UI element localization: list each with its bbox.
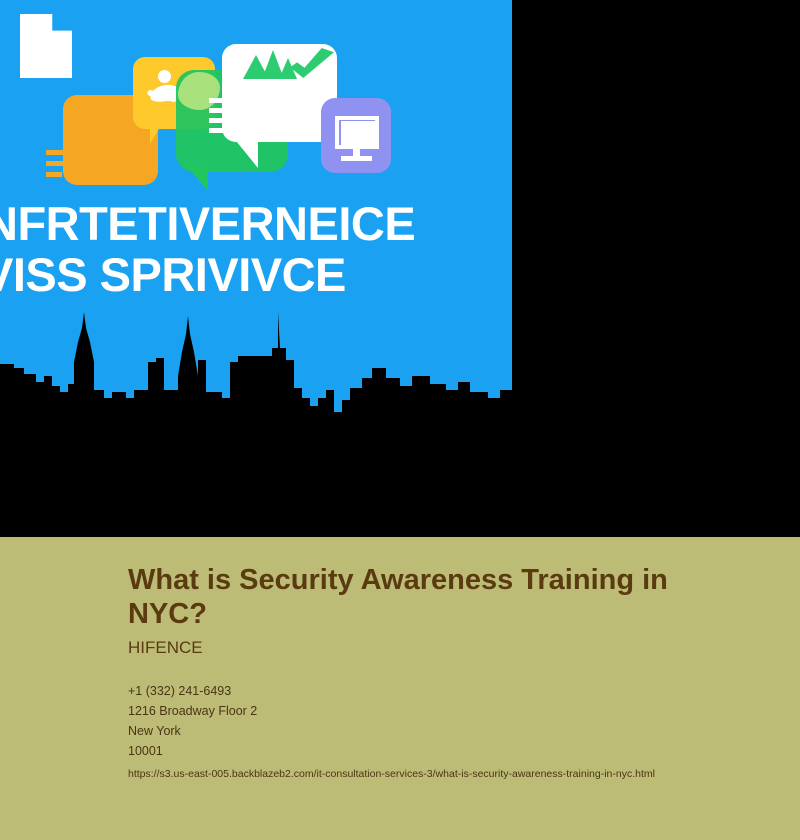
person-head-shape — [158, 70, 171, 83]
city-skyline-silhouette — [0, 302, 512, 537]
contact-city: New York — [128, 721, 728, 741]
page-title: What is Security Awareness Training in N… — [128, 563, 708, 631]
contact-postal-code: 10001 — [128, 741, 728, 761]
hero-artwork: NFRTETIVERNEICE VISS SPRIVIVCE — [0, 0, 512, 537]
contact-phone[interactable]: +1 (332) 241-6493 — [128, 681, 728, 701]
hero-image-block: NFRTETIVERNEICE VISS SPRIVIVCE — [0, 0, 800, 537]
document-text-line — [46, 172, 62, 177]
page-root: NFRTETIVERNEICE VISS SPRIVIVCE What is S… — [0, 0, 800, 840]
source-url-link[interactable]: https://s3.us-east-005.backblazeb2.com/i… — [128, 767, 728, 782]
text-line — [209, 108, 279, 113]
text-lines-group — [209, 98, 287, 136]
speech-bubble-tail — [232, 136, 258, 168]
monitor-base-shape — [341, 156, 372, 161]
contact-street: 1216 Broadway Floor 2 — [128, 701, 728, 721]
icon-cluster — [0, 0, 512, 200]
info-content: What is Security Awareness Training in N… — [128, 563, 728, 782]
document-text-line — [46, 161, 70, 166]
speech-bubble-tail — [186, 165, 208, 191]
document-text-line — [46, 150, 70, 155]
brand-name: HIFENCE — [128, 637, 728, 658]
speech-bubble-tail — [150, 124, 162, 144]
info-panel: What is Security Awareness Training in N… — [0, 537, 800, 840]
artwork-headline: NFRTETIVERNEICE VISS SPRIVIVCE — [0, 198, 512, 300]
document-page-shape — [20, 14, 72, 78]
artwork-headline-line-1: NFRTETIVERNEICE — [0, 198, 512, 249]
text-line — [209, 98, 287, 103]
text-line — [209, 118, 287, 123]
text-line — [209, 128, 261, 133]
artwork-headline-line-2: VISS SPRIVIVCE — [0, 249, 512, 300]
contact-block: +1 (332) 241-6493 1216 Broadway Floor 2 … — [128, 681, 728, 782]
monitor-screen-shape — [341, 121, 376, 147]
